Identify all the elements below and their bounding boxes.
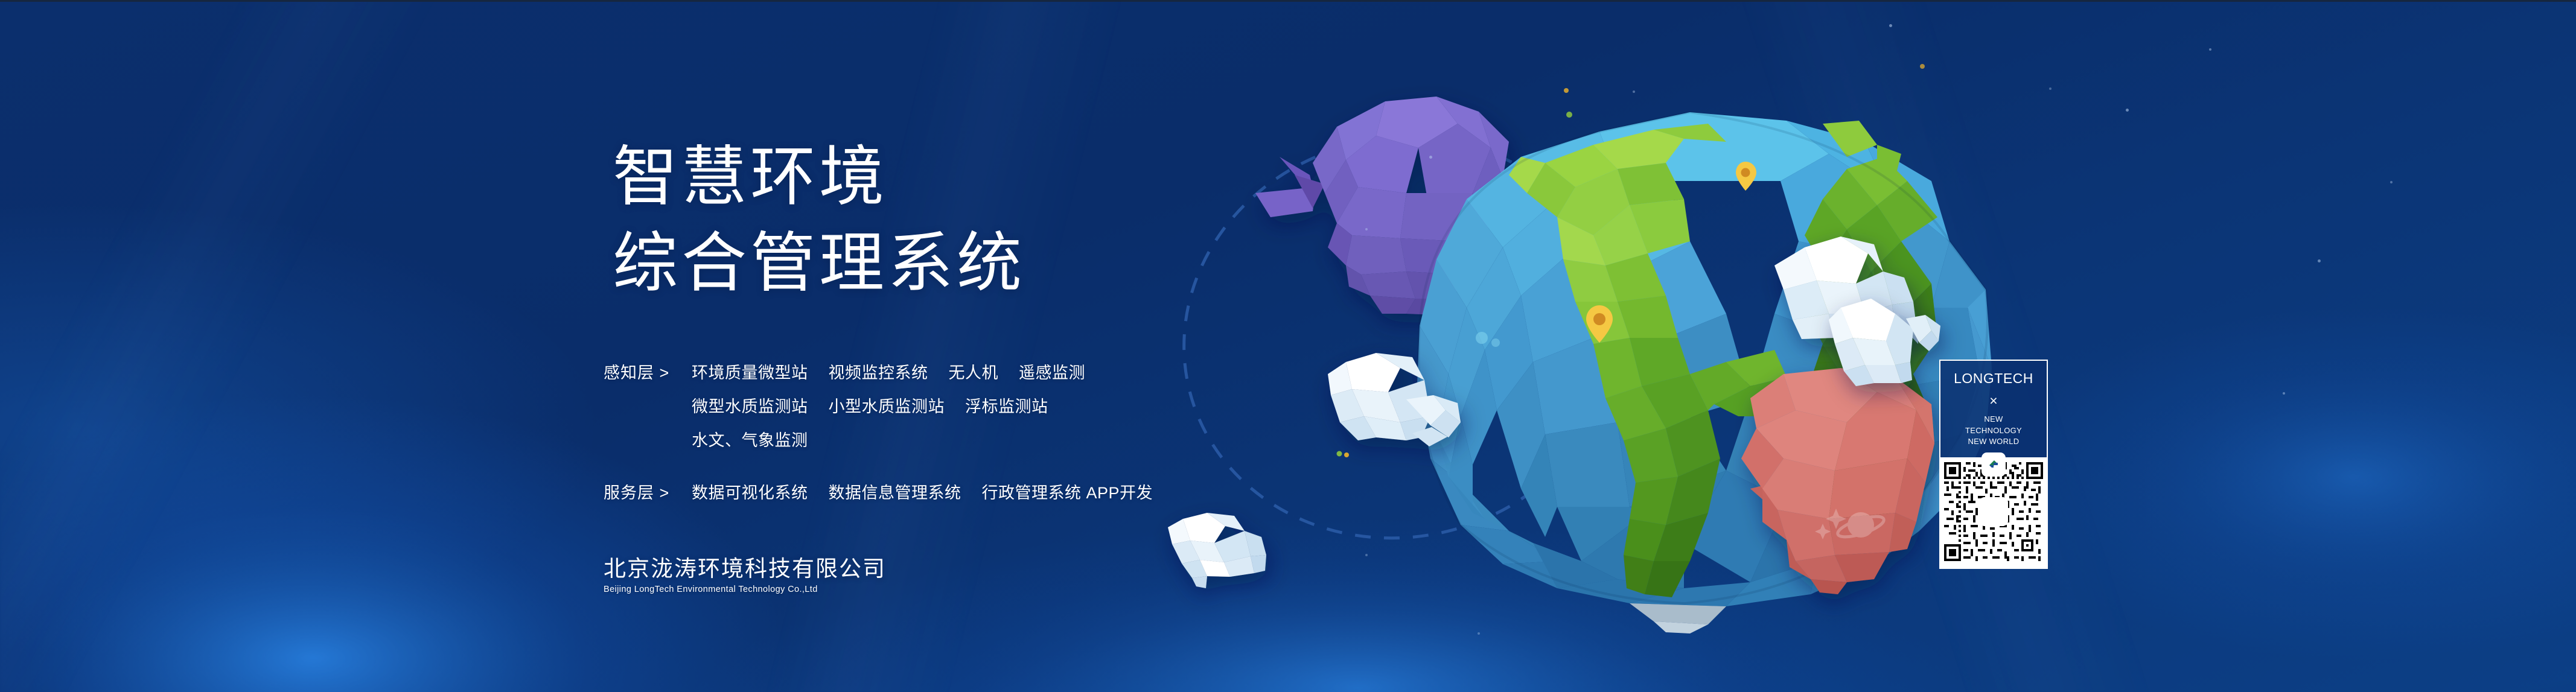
layer-line: 数据可视化系统 数据信息管理系统 行政管理系统 APP开发 xyxy=(692,480,1153,503)
longtech-logo-icon xyxy=(1986,457,2001,472)
qr-card[interactable]: LONGTECH × NEW TECHNOLOGY NEW WORLD xyxy=(1939,360,2048,569)
layer-item[interactable]: 数据可视化系统 xyxy=(692,480,808,503)
layer-line: 微型水质监测站 小型水质监测站 浮标监测站 xyxy=(692,393,1085,417)
layer-label-service: 服务层 > xyxy=(604,480,677,503)
company-signature: 北京泷涛环境科技有限公司 Beijing LongTech Environmen… xyxy=(604,550,886,594)
qr-center-logo xyxy=(1983,454,2004,475)
layer-item[interactable]: 遥感监测 xyxy=(1019,360,1085,383)
layer-item[interactable]: 水文、气象监测 xyxy=(692,427,808,451)
layer-item[interactable]: 浮标监测站 xyxy=(965,393,1048,417)
layer-item[interactable]: 微型水质监测站 xyxy=(692,393,808,417)
company-name-cn: 北京泷涛环境科技有限公司 xyxy=(604,550,886,583)
hero-banner: 智慧环境 综合管理系统 感知层 > 环境质量微型站 视频监控系统 无人机 遥感监… xyxy=(0,0,2576,692)
layer-item[interactable]: 环境质量微型站 xyxy=(692,360,808,383)
layer-item[interactable]: 行政管理系统 APP开发 xyxy=(982,480,1153,503)
layer-item[interactable]: 数据信息管理系统 xyxy=(829,480,961,503)
qr-code-container[interactable] xyxy=(1939,457,2048,569)
layer-row-perception: 感知层 > 环境质量微型站 视频监控系统 无人机 遥感监测 微型水质监测站 小型… xyxy=(604,360,1509,451)
company-name-en: Beijing LongTech Environmental Technolog… xyxy=(604,585,886,594)
layer-list: 感知层 > 环境质量微型站 视频监控系统 无人机 遥感监测 微型水质监测站 小型… xyxy=(604,360,1509,532)
layer-label-perception: 感知层 > xyxy=(604,360,677,383)
page-title: 智慧环境 综合管理系统 xyxy=(613,134,1025,306)
layer-item[interactable]: 视频监控系统 xyxy=(829,360,928,383)
layer-line: 环境质量微型站 视频监控系统 无人机 遥感监测 xyxy=(692,360,1085,383)
layer-item[interactable]: 无人机 xyxy=(949,360,999,383)
brand-name: LONGTECH xyxy=(1954,370,2033,387)
top-edge-line xyxy=(0,0,2576,2)
wechat-qr-code[interactable] xyxy=(1944,462,2043,561)
vignette-overlay xyxy=(0,0,2576,692)
cross-icon: × xyxy=(1989,394,1997,408)
qr-card-header: LONGTECH × NEW TECHNOLOGY NEW WORLD xyxy=(1939,360,2048,457)
brand-tagline: NEW TECHNOLOGY NEW WORLD xyxy=(1965,414,2022,448)
layer-line: 水文、气象监测 xyxy=(692,427,1085,451)
layer-item[interactable]: 小型水质监测站 xyxy=(829,393,945,417)
layer-row-service: 服务层 > 数据可视化系统 数据信息管理系统 行政管理系统 APP开发 xyxy=(604,480,1509,503)
